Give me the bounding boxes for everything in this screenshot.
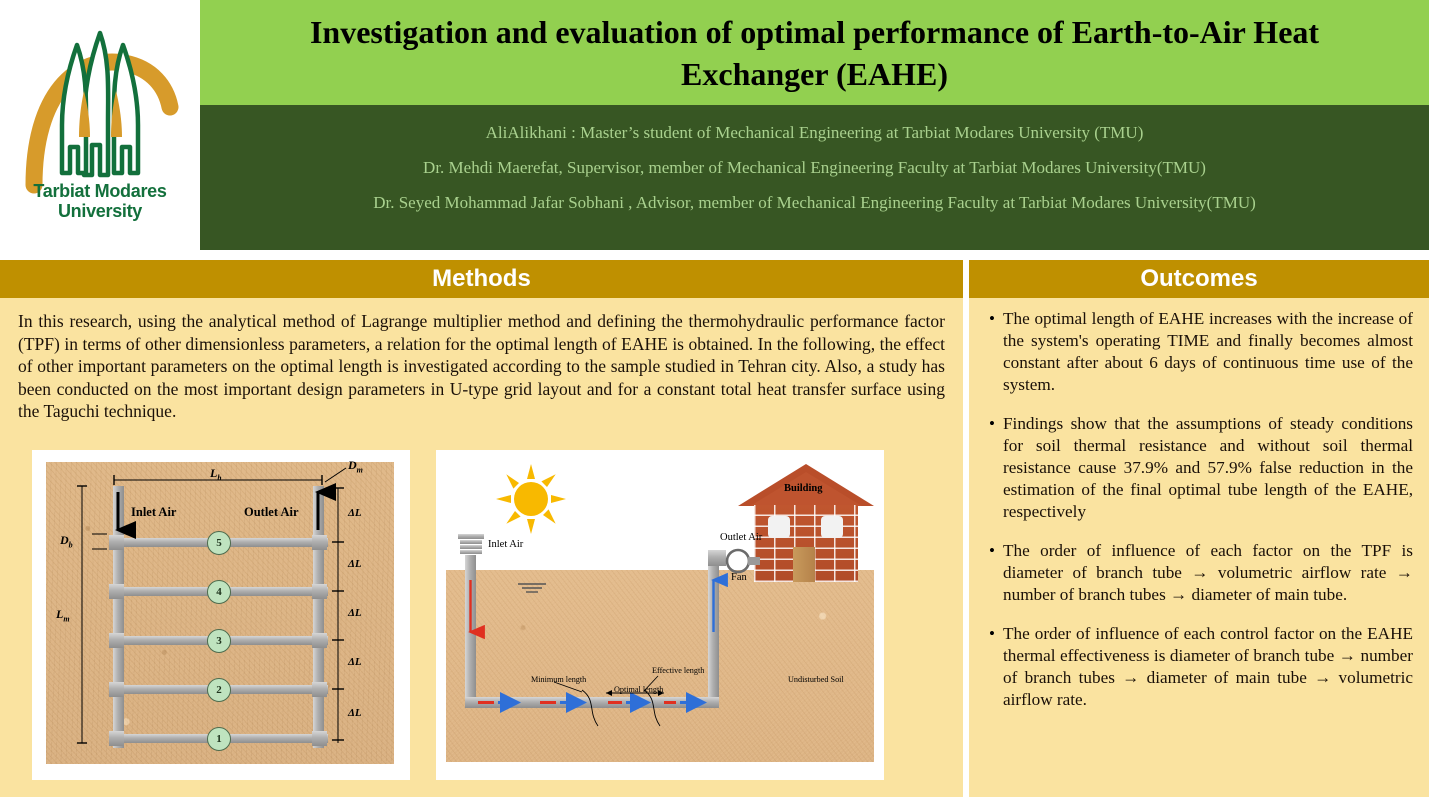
methods-section-header: Methods: [0, 260, 963, 298]
outcome-text-1: The optimal length of EAHE increases wit…: [1003, 308, 1413, 396]
list-item: • Findings show that the assumptions of …: [977, 413, 1417, 523]
poster-root: Tarbiat Modares University Investigation…: [0, 0, 1429, 797]
label-minimum-length: Minimum length: [531, 675, 586, 684]
outcome-text-2: Findings show that the assumptions of st…: [1003, 413, 1413, 523]
title-banner: Investigation and evaluation of optimal …: [200, 0, 1429, 105]
methods-section-body: In this research, using the analytical m…: [0, 298, 963, 797]
bullet-marker-icon: •: [977, 623, 1003, 711]
label-undisturbed-soil: Undisturbed Soil: [788, 675, 844, 684]
author-line-3: Dr. Seyed Mohammad Jafar Sobhani , Advis…: [200, 185, 1429, 220]
joint-left-1: [109, 731, 124, 746]
bullet-marker-icon: •: [977, 308, 1003, 396]
poster-header: Tarbiat Modares University Investigation…: [0, 0, 1429, 250]
label-inlet-air-grid: Inlet Air: [131, 505, 176, 520]
label-deltaL-2: ΔL: [348, 656, 362, 668]
tube-node-5: 5: [207, 531, 231, 555]
soil-background-grid: [46, 462, 394, 764]
methods-column: Methods In this research, using the anal…: [0, 260, 963, 797]
outcomes-column: Outcomes • The optimal length of EAHE in…: [969, 260, 1429, 797]
sun-icon: [496, 464, 566, 534]
tube-node-4: 4: [207, 580, 231, 604]
inlet-riser: [465, 555, 476, 697]
main-tube-outlet: [313, 486, 324, 748]
logo-container: Tarbiat Modares University: [0, 0, 200, 250]
label-inlet-air-schematic: Inlet Air: [488, 539, 523, 550]
list-item: • The order of influence of each control…: [977, 623, 1417, 711]
university-logo: Tarbiat Modares University: [20, 25, 180, 225]
building-window-right: [821, 516, 843, 538]
outlet-riser: [708, 556, 719, 697]
joint-left-4: [109, 584, 124, 599]
logo-line-1: Tarbiat Modares: [33, 181, 166, 201]
joint-right-2: [312, 682, 327, 697]
label-optimal-length: Optimal length: [614, 685, 663, 694]
label-building: Building: [784, 483, 823, 494]
label-deltaL-5: ΔL: [348, 507, 362, 519]
label-effective-length: Effective length: [652, 666, 704, 675]
author-line-2: Dr. Mehdi Maerefat, Supervisor, member o…: [200, 150, 1429, 185]
methods-paragraph: In this research, using the analytical m…: [12, 308, 951, 423]
joint-right-1: [312, 731, 327, 746]
main-tube-inlet: [113, 486, 124, 748]
joint-right-3: [312, 633, 327, 648]
authors-banner: AliAlikhani : Master’s student of Mechan…: [200, 105, 1429, 250]
joint-right-4: [312, 584, 327, 599]
figure-u-type-grid: 5 4 3 2 1: [32, 450, 410, 780]
inlet-cap-1: [458, 534, 484, 539]
label-Lm: Lm: [56, 607, 70, 623]
label-Db: Db: [60, 533, 73, 549]
author-line-1: AliAlikhani : Master’s student of Mechan…: [200, 115, 1429, 150]
label-outlet-air-grid: Outlet Air: [244, 505, 299, 520]
joint-left-5: [109, 535, 124, 550]
building-door: [793, 547, 815, 582]
list-item: • The order of influence of each factor …: [977, 540, 1417, 606]
inlet-cap-2: [460, 540, 482, 544]
logo-wordmark: Tarbiat Modares University: [20, 181, 180, 221]
outcomes-section-header: Outcomes: [969, 260, 1429, 298]
label-deltaL-3: ΔL: [348, 607, 362, 619]
logo-line-2: University: [58, 201, 142, 221]
fan-icon: [724, 548, 760, 574]
inlet-cap-3: [460, 545, 482, 549]
label-fan: Fan: [731, 572, 747, 583]
label-Lb: Lb: [210, 466, 221, 482]
joint-left-3: [109, 633, 124, 648]
bullet-marker-icon: •: [977, 540, 1003, 606]
tube-node-3: 3: [207, 629, 231, 653]
label-Dm: Dm: [348, 458, 363, 474]
outcomes-header-label: Outcomes: [1140, 265, 1257, 293]
label-outlet-air-schematic: Outlet Air: [720, 532, 762, 543]
tube-node-1: 1: [207, 727, 231, 751]
methods-header-label: Methods: [432, 265, 531, 293]
poster-title: Investigation and evaluation of optimal …: [245, 11, 1385, 95]
inlet-cap-4: [460, 550, 482, 554]
outcome-text-3: The order of influence of each factor on…: [1003, 540, 1413, 606]
tmu-crest-icon: [20, 25, 180, 195]
joint-right-5: [312, 535, 327, 550]
buried-tube: [465, 697, 719, 708]
tube-node-2: 2: [207, 678, 231, 702]
figure-eahe-schematic: Building Inlet Air Outlet Air: [436, 450, 884, 780]
joint-left-2: [109, 682, 124, 697]
outcomes-bullet-list: • The optimal length of EAHE increases w…: [977, 308, 1417, 711]
list-item: • The optimal length of EAHE increases w…: [977, 308, 1417, 396]
bullet-marker-icon: •: [977, 413, 1003, 523]
label-deltaL-4: ΔL: [348, 558, 362, 570]
outcome-text-4: The order of influence of each control f…: [1003, 623, 1413, 711]
building-window-left: [768, 516, 790, 538]
methods-figures: 5 4 3 2 1: [0, 450, 963, 795]
label-deltaL-1: ΔL: [348, 707, 362, 719]
outcomes-section-body: • The optimal length of EAHE increases w…: [969, 298, 1429, 797]
